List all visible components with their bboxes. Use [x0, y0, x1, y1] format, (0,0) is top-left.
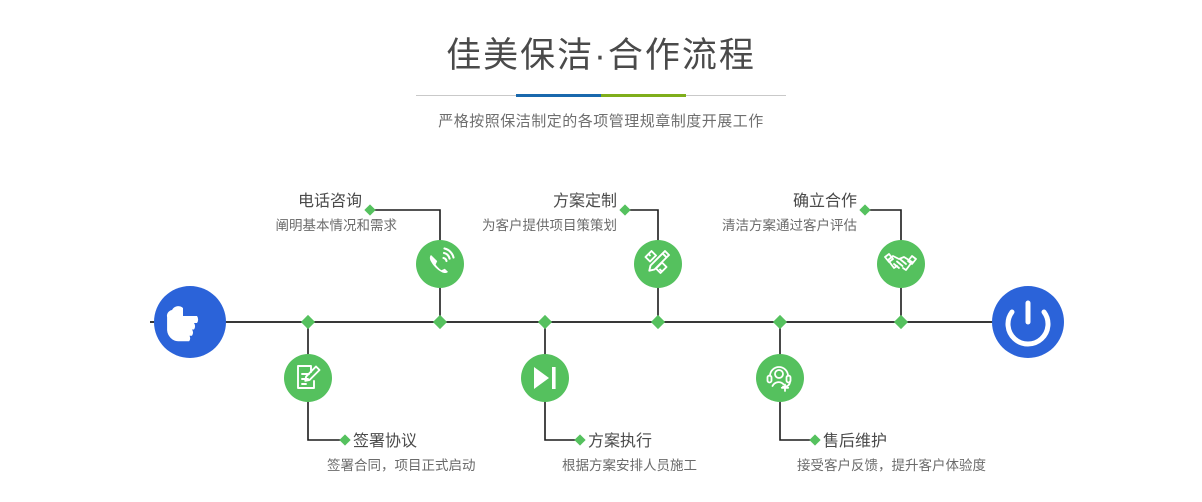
label-marker-step-1	[364, 204, 375, 215]
label-marker-step-3	[619, 204, 630, 215]
page-subtitle: 严格按照保洁制定的各项管理规章制度开展工作	[0, 102, 1202, 131]
step-1-icon-circle	[416, 240, 464, 288]
step-5-title: 确立合作	[793, 192, 857, 210]
step-6-desc: 接受客户反馈，提升客户体验度	[797, 457, 986, 473]
step-4-title: 方案执行	[588, 432, 652, 450]
end-endpoint[interactable]	[992, 286, 1064, 358]
page-header: 佳美保洁·合作流程 严格按照保洁制定的各项管理规章制度开展工作	[0, 0, 1202, 131]
axis-marker-step-2	[301, 315, 315, 329]
step-node-4[interactable]	[521, 354, 569, 402]
step-4-desc: 根据方案安排人员施工	[562, 457, 697, 473]
step-2-desc: 签署合同，项目正式启动	[327, 457, 476, 473]
step-1-title: 电话咨询	[298, 192, 362, 210]
title-divider	[416, 90, 786, 102]
axis-marker-step-5	[894, 315, 908, 329]
page-title: 佳美保洁·合作流程	[0, 0, 1202, 76]
step-3-icon-circle	[634, 240, 682, 288]
step-5-desc: 清洁方案通过客户评估	[722, 217, 857, 233]
step-node-3[interactable]	[634, 240, 682, 288]
step-node-6[interactable]	[756, 354, 804, 402]
divider-segment-green	[601, 94, 686, 97]
step-node-2[interactable]	[284, 354, 332, 402]
axis-marker-step-1	[433, 315, 447, 329]
start-endpoint[interactable]	[154, 286, 226, 358]
step-1-desc: 阐明基本情况和需求	[276, 217, 398, 233]
label-marker-step-4	[574, 434, 585, 445]
axis-marker-step-6	[773, 315, 787, 329]
divider-segment-blue	[516, 94, 601, 97]
label-marker-step-6	[809, 434, 820, 445]
step-2-title: 签署协议	[353, 432, 417, 450]
step-2-icon-circle	[284, 354, 332, 402]
step-node-1[interactable]	[416, 240, 464, 288]
step-3-desc: 为客户提供项目策策划	[482, 217, 617, 233]
step-node-5[interactable]	[877, 240, 925, 288]
step-3-title: 方案定制	[553, 192, 617, 210]
axis-marker-step-4	[538, 315, 552, 329]
axis-marker-step-3	[651, 315, 665, 329]
process-flow-diagram: 电话咨询 阐明基本情况和需求 方案定制 为客户提供项目策策划 确立合作 清洁方案…	[0, 150, 1202, 502]
step-6-title: 售后维护	[823, 432, 887, 450]
label-marker-step-5	[859, 204, 870, 215]
label-marker-step-2	[339, 434, 350, 445]
